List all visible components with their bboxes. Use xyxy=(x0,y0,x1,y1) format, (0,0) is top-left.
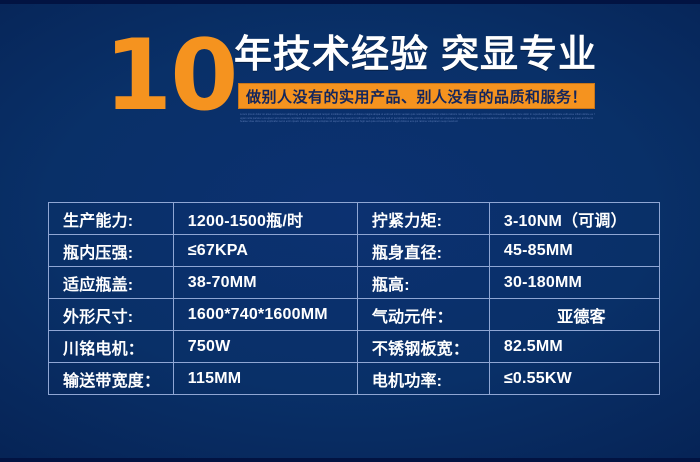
bottom-edge-band xyxy=(0,458,700,462)
spec-label: 拧紧力矩: xyxy=(357,203,489,235)
spec-label: 适应瓶盖: xyxy=(49,267,174,299)
spec-value: ≤0.55KW xyxy=(489,363,659,395)
spec-value: ≤67KPA xyxy=(173,235,357,267)
headline: 年技术经验突显专业 xyxy=(234,31,597,79)
decorative-microtext: Lorem ipsum dolor sit amet consectetur a… xyxy=(240,113,595,124)
spec-table-body: 生产能力: 1200-1500瓶/时 拧紧力矩: 3-10NM（可调） 瓶内压强… xyxy=(49,203,660,395)
spec-label: 生产能力: xyxy=(49,203,174,235)
spec-label: 气动元件： xyxy=(357,299,489,331)
spec-value: 750W xyxy=(173,331,357,363)
sub-banner-text: 做别人没有的实用产品、别人没有的品质和服务！ xyxy=(246,86,587,107)
top-edge-band xyxy=(0,0,700,4)
spec-value: 38-70MM xyxy=(173,267,357,299)
header-section: 10 年技术经验突显专业 做别人没有的实用产品、别人没有的品质和服务！ Lore… xyxy=(0,20,700,142)
table-row: 瓶内压强: ≤67KPA 瓶身直径: 45-85MM xyxy=(49,235,660,267)
spec-value: 3-10NM（可调） xyxy=(489,203,659,235)
spec-label: 不锈钢板宽： xyxy=(357,331,489,363)
spec-label: 瓶高: xyxy=(357,267,489,299)
spec-value: 1200-1500瓶/时 xyxy=(173,203,357,235)
headline-part-1: 年技术经验 xyxy=(234,34,429,76)
poster-root: 10 年技术经验突显专业 做别人没有的实用产品、别人没有的品质和服务！ Lore… xyxy=(0,0,700,462)
spec-value: 30-180MM xyxy=(489,267,659,299)
spec-value: 82.5MM xyxy=(489,331,659,363)
spec-label: 瓶身直径: xyxy=(357,235,489,267)
spec-value: 1600*740*1600MM xyxy=(173,299,357,331)
spec-table: 生产能力: 1200-1500瓶/时 拧紧力矩: 3-10NM（可调） 瓶内压强… xyxy=(48,202,660,395)
table-row: 川铭电机： 750W 不锈钢板宽： 82.5MM xyxy=(49,331,660,363)
spec-label: 川铭电机： xyxy=(49,331,174,363)
table-row: 外形尺寸: 1600*740*1600MM 气动元件： 亚德客 xyxy=(49,299,660,331)
table-row: 生产能力: 1200-1500瓶/时 拧紧力矩: 3-10NM（可调） xyxy=(49,203,660,235)
table-row: 输送带宽度： 115MM 电机功率: ≤0.55KW xyxy=(49,363,660,395)
spec-value: 亚德客 xyxy=(489,299,659,331)
spec-value: 115MM xyxy=(173,363,357,395)
spec-label: 外形尺寸: xyxy=(49,299,174,331)
years-number: 10 xyxy=(104,32,236,120)
spec-label: 输送带宽度： xyxy=(49,363,174,395)
sub-banner: 做别人没有的实用产品、别人没有的品质和服务！ xyxy=(238,83,595,109)
headline-part-2: 突显专业 xyxy=(441,34,597,76)
spec-label: 电机功率: xyxy=(357,363,489,395)
table-row: 适应瓶盖: 38-70MM 瓶高: 30-180MM xyxy=(49,267,660,299)
spec-label: 瓶内压强: xyxy=(49,235,174,267)
spec-value: 45-85MM xyxy=(489,235,659,267)
